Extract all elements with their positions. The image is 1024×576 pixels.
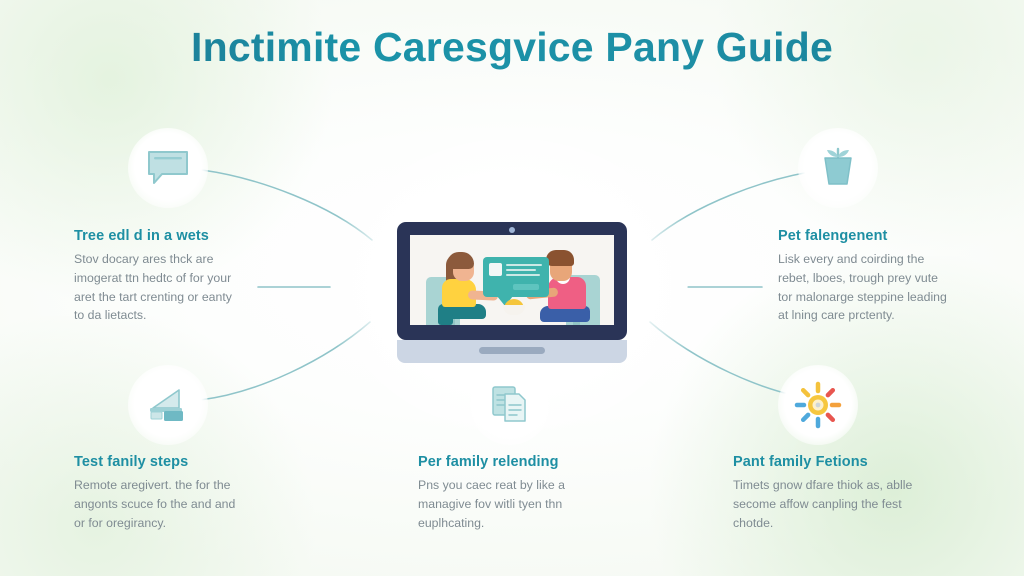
text-block-top-right: Pet falengenent Lisk every and coirding …: [778, 228, 950, 325]
heading-bottom-center: Per family relending: [418, 454, 594, 470]
body-bottom-left: Remote aregivert. the for the angonts sc…: [74, 476, 246, 532]
text-block-bottom-center: Per family relending Pns you caec reat b…: [418, 454, 594, 532]
node-icon-bottom-right: [778, 365, 858, 445]
node-icon-bottom-left: [128, 365, 208, 445]
text-block-bottom-right: Pant family Fetions Timets gnow dfare th…: [733, 454, 919, 532]
text-block-top-left: Tree edl d in a wets Stov docary ares th…: [74, 228, 242, 325]
body-top-left: Stov docary ares thck are imogerat ttn h…: [74, 250, 242, 325]
person-right-hair: [546, 250, 574, 266]
documents-icon: [489, 383, 531, 427]
chat-bubble-avatar: [489, 263, 502, 276]
monitor-stand-bar: [479, 347, 545, 354]
monitor-screen: [410, 235, 614, 325]
chat-bubble-icon: [483, 257, 549, 297]
potted-plant-icon: [817, 146, 859, 190]
speech-bubble-icon: [146, 148, 190, 188]
body-top-right: Lisk every and coirding the rebet, lboes…: [778, 250, 950, 325]
node-icon-top-left: [128, 128, 208, 208]
person-left-hair: [447, 252, 474, 269]
monitor-bezel: [397, 222, 627, 340]
node-icon-bottom-center: [470, 365, 550, 445]
body-bottom-center: Pns you caec reat by like a managive fov…: [418, 476, 594, 532]
infographic-canvas: Inctimite Caresgvice Pany Guide: [0, 0, 1024, 576]
bowl-icon: [503, 305, 525, 315]
chat-bubble-line: [513, 284, 539, 290]
colorful-sun-icon: [793, 380, 843, 430]
heading-top-left: Tree edl d in a wets: [74, 228, 242, 244]
text-block-bottom-left: Test fanily steps Remote aregivert. the …: [74, 454, 246, 532]
body-bottom-right: Timets gnow dfare thiok as, ablle secome…: [733, 476, 919, 532]
heading-top-right: Pet falengenent: [778, 228, 950, 244]
chat-bubble-line: [506, 274, 540, 276]
webcam-icon: [509, 227, 515, 233]
chat-bubble-line: [506, 269, 536, 271]
video-call-monitor: [397, 222, 627, 363]
node-icon-top-right: [798, 128, 878, 208]
chat-bubble-line: [506, 264, 542, 266]
laptop-icon: [145, 386, 191, 424]
heading-bottom-right: Pant family Fetions: [733, 454, 919, 470]
heading-bottom-left: Test fanily steps: [74, 454, 246, 470]
person-left-shin: [438, 313, 453, 325]
